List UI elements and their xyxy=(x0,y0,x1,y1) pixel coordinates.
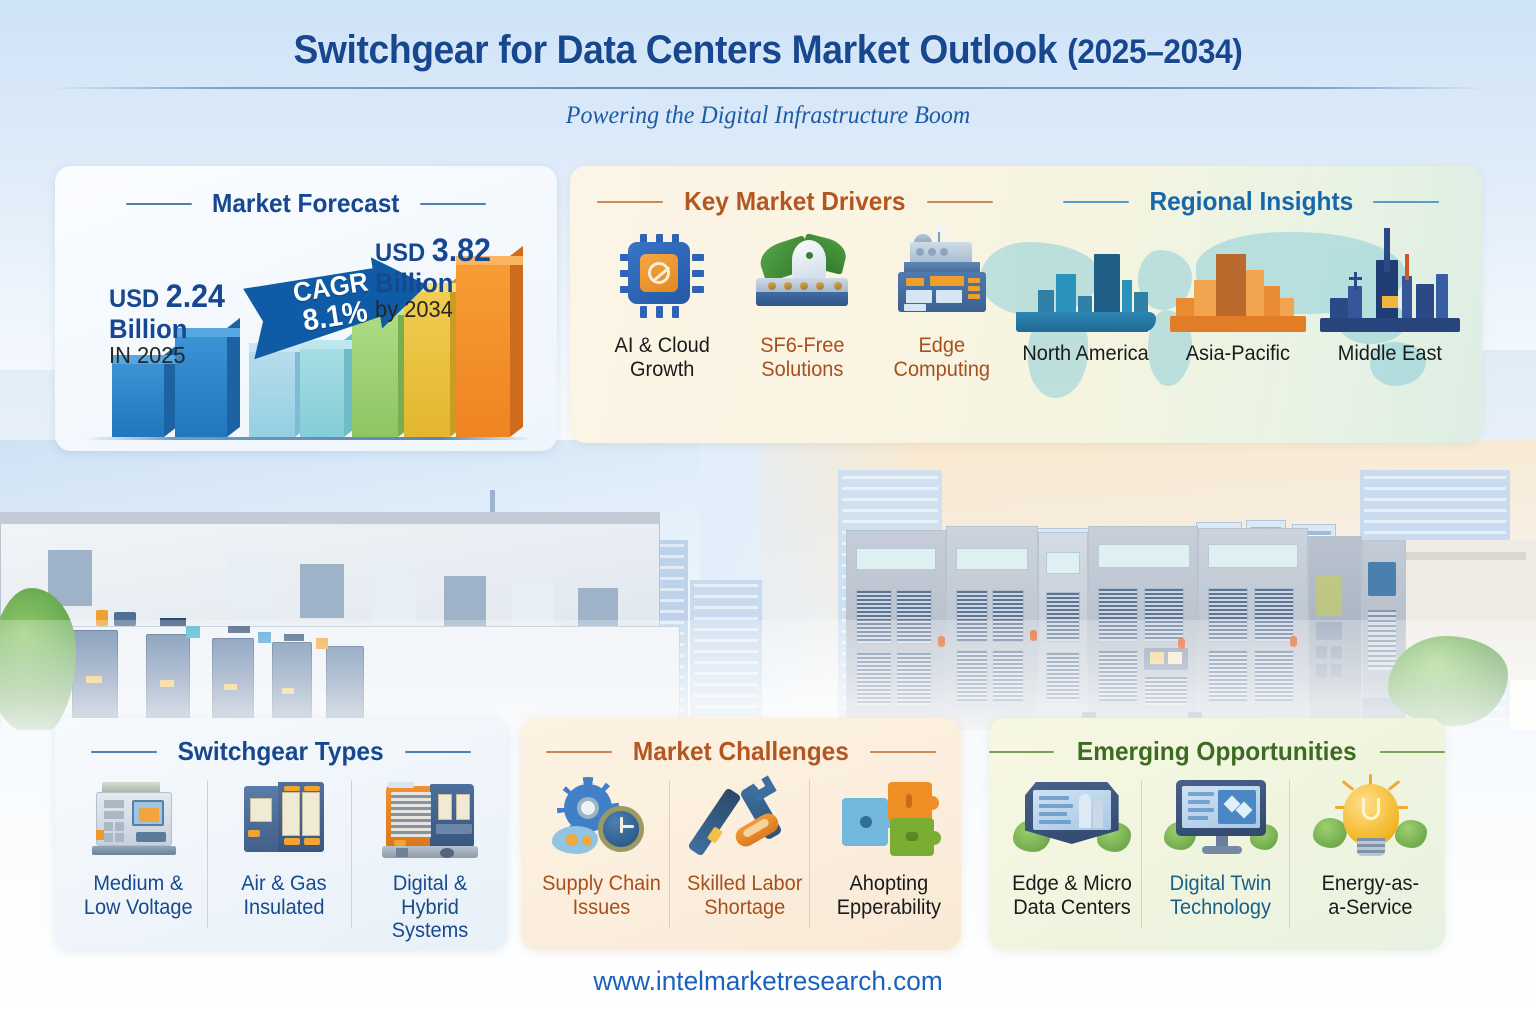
type-item-digital-hybrid[interactable]: Digital & Hybrid Systems xyxy=(357,776,503,943)
type-label-medium-low-voltage: Medium & Low Voltage xyxy=(84,872,193,919)
header-divider xyxy=(48,87,1488,89)
regional-items: North America Asia-Pacific xyxy=(1010,228,1470,366)
challenges-items: Supply Chain Issues Skilled Labor Shorta… xyxy=(529,776,961,919)
type-label-digital-hybrid: Digital & Hybrid Systems xyxy=(361,872,500,943)
switchgear-cabinet-icon xyxy=(88,776,188,862)
start-unit: Billion xyxy=(109,315,225,343)
bar-2029 xyxy=(300,349,344,437)
cpu-chip-icon xyxy=(614,228,710,324)
challenges-dash-right xyxy=(870,751,936,753)
asia-pacific-skyline-icon xyxy=(1168,228,1308,332)
challenge-item-skilled-labor[interactable]: Skilled Labor Shortage xyxy=(673,776,817,919)
green-leaf-equipment-icon xyxy=(754,228,850,324)
regional-dash-right xyxy=(1373,201,1439,203)
gas-insulated-cabinet-icon xyxy=(234,776,334,862)
end-year: by 2034 xyxy=(375,297,491,322)
regional-item-north-america[interactable]: North America xyxy=(1010,228,1162,366)
type-item-air-gas-insulated[interactable]: Air & Gas Insulated xyxy=(211,776,357,943)
opportunities-dash-right xyxy=(1380,751,1445,753)
opportunities-dash-left xyxy=(989,751,1054,753)
opportunity-item-energy-as-service[interactable]: Energy-as- a-Service xyxy=(1296,774,1445,919)
page-title: Switchgear for Data Centers Market Outlo… xyxy=(54,28,1482,73)
start-year: IN 2025 xyxy=(109,343,225,368)
driver-label-edge-computing: Edge Computing xyxy=(894,334,990,381)
chart-baseline xyxy=(86,437,531,440)
switchgear-types-title: Switchgear Types xyxy=(178,736,384,767)
opportunity-label-energy-as-service: Energy-as- a-Service xyxy=(1322,872,1420,919)
regional-item-middle-east[interactable]: Middle East xyxy=(1314,228,1466,366)
gear-clock-icon xyxy=(548,776,654,862)
type-item-medium-low-voltage[interactable]: Medium & Low Voltage xyxy=(65,776,211,943)
wrench-screwdriver-icon xyxy=(692,776,798,862)
type-label-air-gas-insulated: Air & Gas Insulated xyxy=(241,872,326,919)
types-dash-left xyxy=(91,751,157,753)
edge-server-panel-icon xyxy=(894,228,990,324)
digital-hybrid-unit-icon xyxy=(378,776,482,862)
types-dash-right xyxy=(405,751,471,753)
digital-twin-monitor-icon xyxy=(1162,774,1280,862)
middle-east-skyline-icon xyxy=(1320,228,1460,332)
start-currency: USD xyxy=(109,285,166,313)
opportunity-item-digital-twin[interactable]: Digital Twin Technology xyxy=(1146,774,1295,919)
section-dash-left xyxy=(126,203,192,205)
drivers-dash-left xyxy=(597,201,663,203)
north-america-skyline-icon xyxy=(1016,228,1156,332)
switchgear-types-panel: Switchgear Types xyxy=(55,718,507,950)
infographic-canvas: Switchgear for Data Centers Market Outlo… xyxy=(0,0,1536,1024)
forecast-start-stat: USD 2.24 Billion IN 2025 xyxy=(106,278,228,369)
lightbulb-icon xyxy=(1311,774,1429,862)
challenge-label-supply-chain: Supply Chain Issues xyxy=(542,872,661,919)
opportunities-items: Edge & Micro Data Centers xyxy=(997,774,1445,919)
opportunity-label-edge-micro: Edge & Micro Data Centers xyxy=(1012,872,1132,919)
regional-label-middle-east: Middle East xyxy=(1338,342,1442,366)
section-dash-right xyxy=(420,203,486,205)
market-challenges-panel: Market Challenges xyxy=(521,718,961,950)
regional-label-north-america: North America xyxy=(1023,342,1149,366)
puzzle-pieces-icon xyxy=(836,776,942,862)
regional-insights-title: Regional Insights xyxy=(1149,186,1353,217)
challenge-label-skilled-labor: Skilled Labor Shortage xyxy=(687,872,802,919)
end-currency: USD xyxy=(375,239,432,267)
challenge-item-interoperability[interactable]: Ahopting Epperability xyxy=(817,776,961,919)
challenges-dash-left xyxy=(546,751,612,753)
regional-dash-left xyxy=(1063,201,1129,203)
forecast-end-stat: USD 3.82 Billion by 2034 xyxy=(372,232,494,323)
bar-2028 xyxy=(249,352,295,437)
regional-label-asia-pacific: Asia-Pacific xyxy=(1186,342,1290,366)
drivers-regional-panel: Key Market Drivers Regional Insights xyxy=(570,166,1482,443)
market-forecast-title: Market Forecast xyxy=(212,188,399,219)
driver-label-sf6-free: SF6-Free Solutions xyxy=(760,334,844,381)
driver-item-ai-cloud[interactable]: AI & Cloud Growth xyxy=(592,228,732,381)
key-market-drivers-title: Key Market Drivers xyxy=(684,186,905,217)
page-subtitle: Powering the Digital Infrastructure Boom xyxy=(31,102,1506,130)
opportunity-item-edge-micro[interactable]: Edge & Micro Data Centers xyxy=(997,774,1146,919)
emerging-opportunities-panel: Emerging Opportunities xyxy=(989,718,1445,950)
datacenter-illustration-band xyxy=(0,440,1536,730)
end-unit: Billion xyxy=(375,269,491,297)
driver-item-edge-computing[interactable]: Edge Computing xyxy=(872,228,1012,381)
market-challenges-title: Market Challenges xyxy=(633,736,849,767)
drivers-items: AI & Cloud Growth xyxy=(592,228,1012,381)
regional-item-asia-pacific[interactable]: Asia-Pacific xyxy=(1162,228,1314,366)
emerging-opportunities-title: Emerging Opportunities xyxy=(1077,736,1357,767)
page-title-main: Switchgear for Data Centers Market Outlo… xyxy=(294,28,1068,72)
header: Switchgear for Data Centers Market Outlo… xyxy=(0,0,1536,130)
challenge-label-interoperability: Ahopting Epperability xyxy=(837,872,941,919)
edge-micro-datacenter-icon xyxy=(1013,774,1131,862)
opportunity-label-digital-twin: Digital Twin Technology xyxy=(1170,872,1272,919)
challenge-item-supply-chain[interactable]: Supply Chain Issues xyxy=(529,776,673,919)
footer-url[interactable]: www.intelmarketresearch.com xyxy=(23,966,1513,997)
bar-2031 xyxy=(352,315,398,437)
start-value: 2.24 xyxy=(166,278,225,314)
page-title-years: (2025–2034) xyxy=(1067,33,1242,71)
drivers-dash-right xyxy=(927,201,993,203)
bar-2025 xyxy=(112,364,164,437)
end-value: 3.82 xyxy=(432,232,491,268)
driver-label-ai-cloud: AI & Cloud Growth xyxy=(614,334,709,381)
driver-item-sf6-free[interactable]: SF6-Free Solutions xyxy=(732,228,872,381)
types-items: Medium & Low Voltage xyxy=(65,776,505,943)
